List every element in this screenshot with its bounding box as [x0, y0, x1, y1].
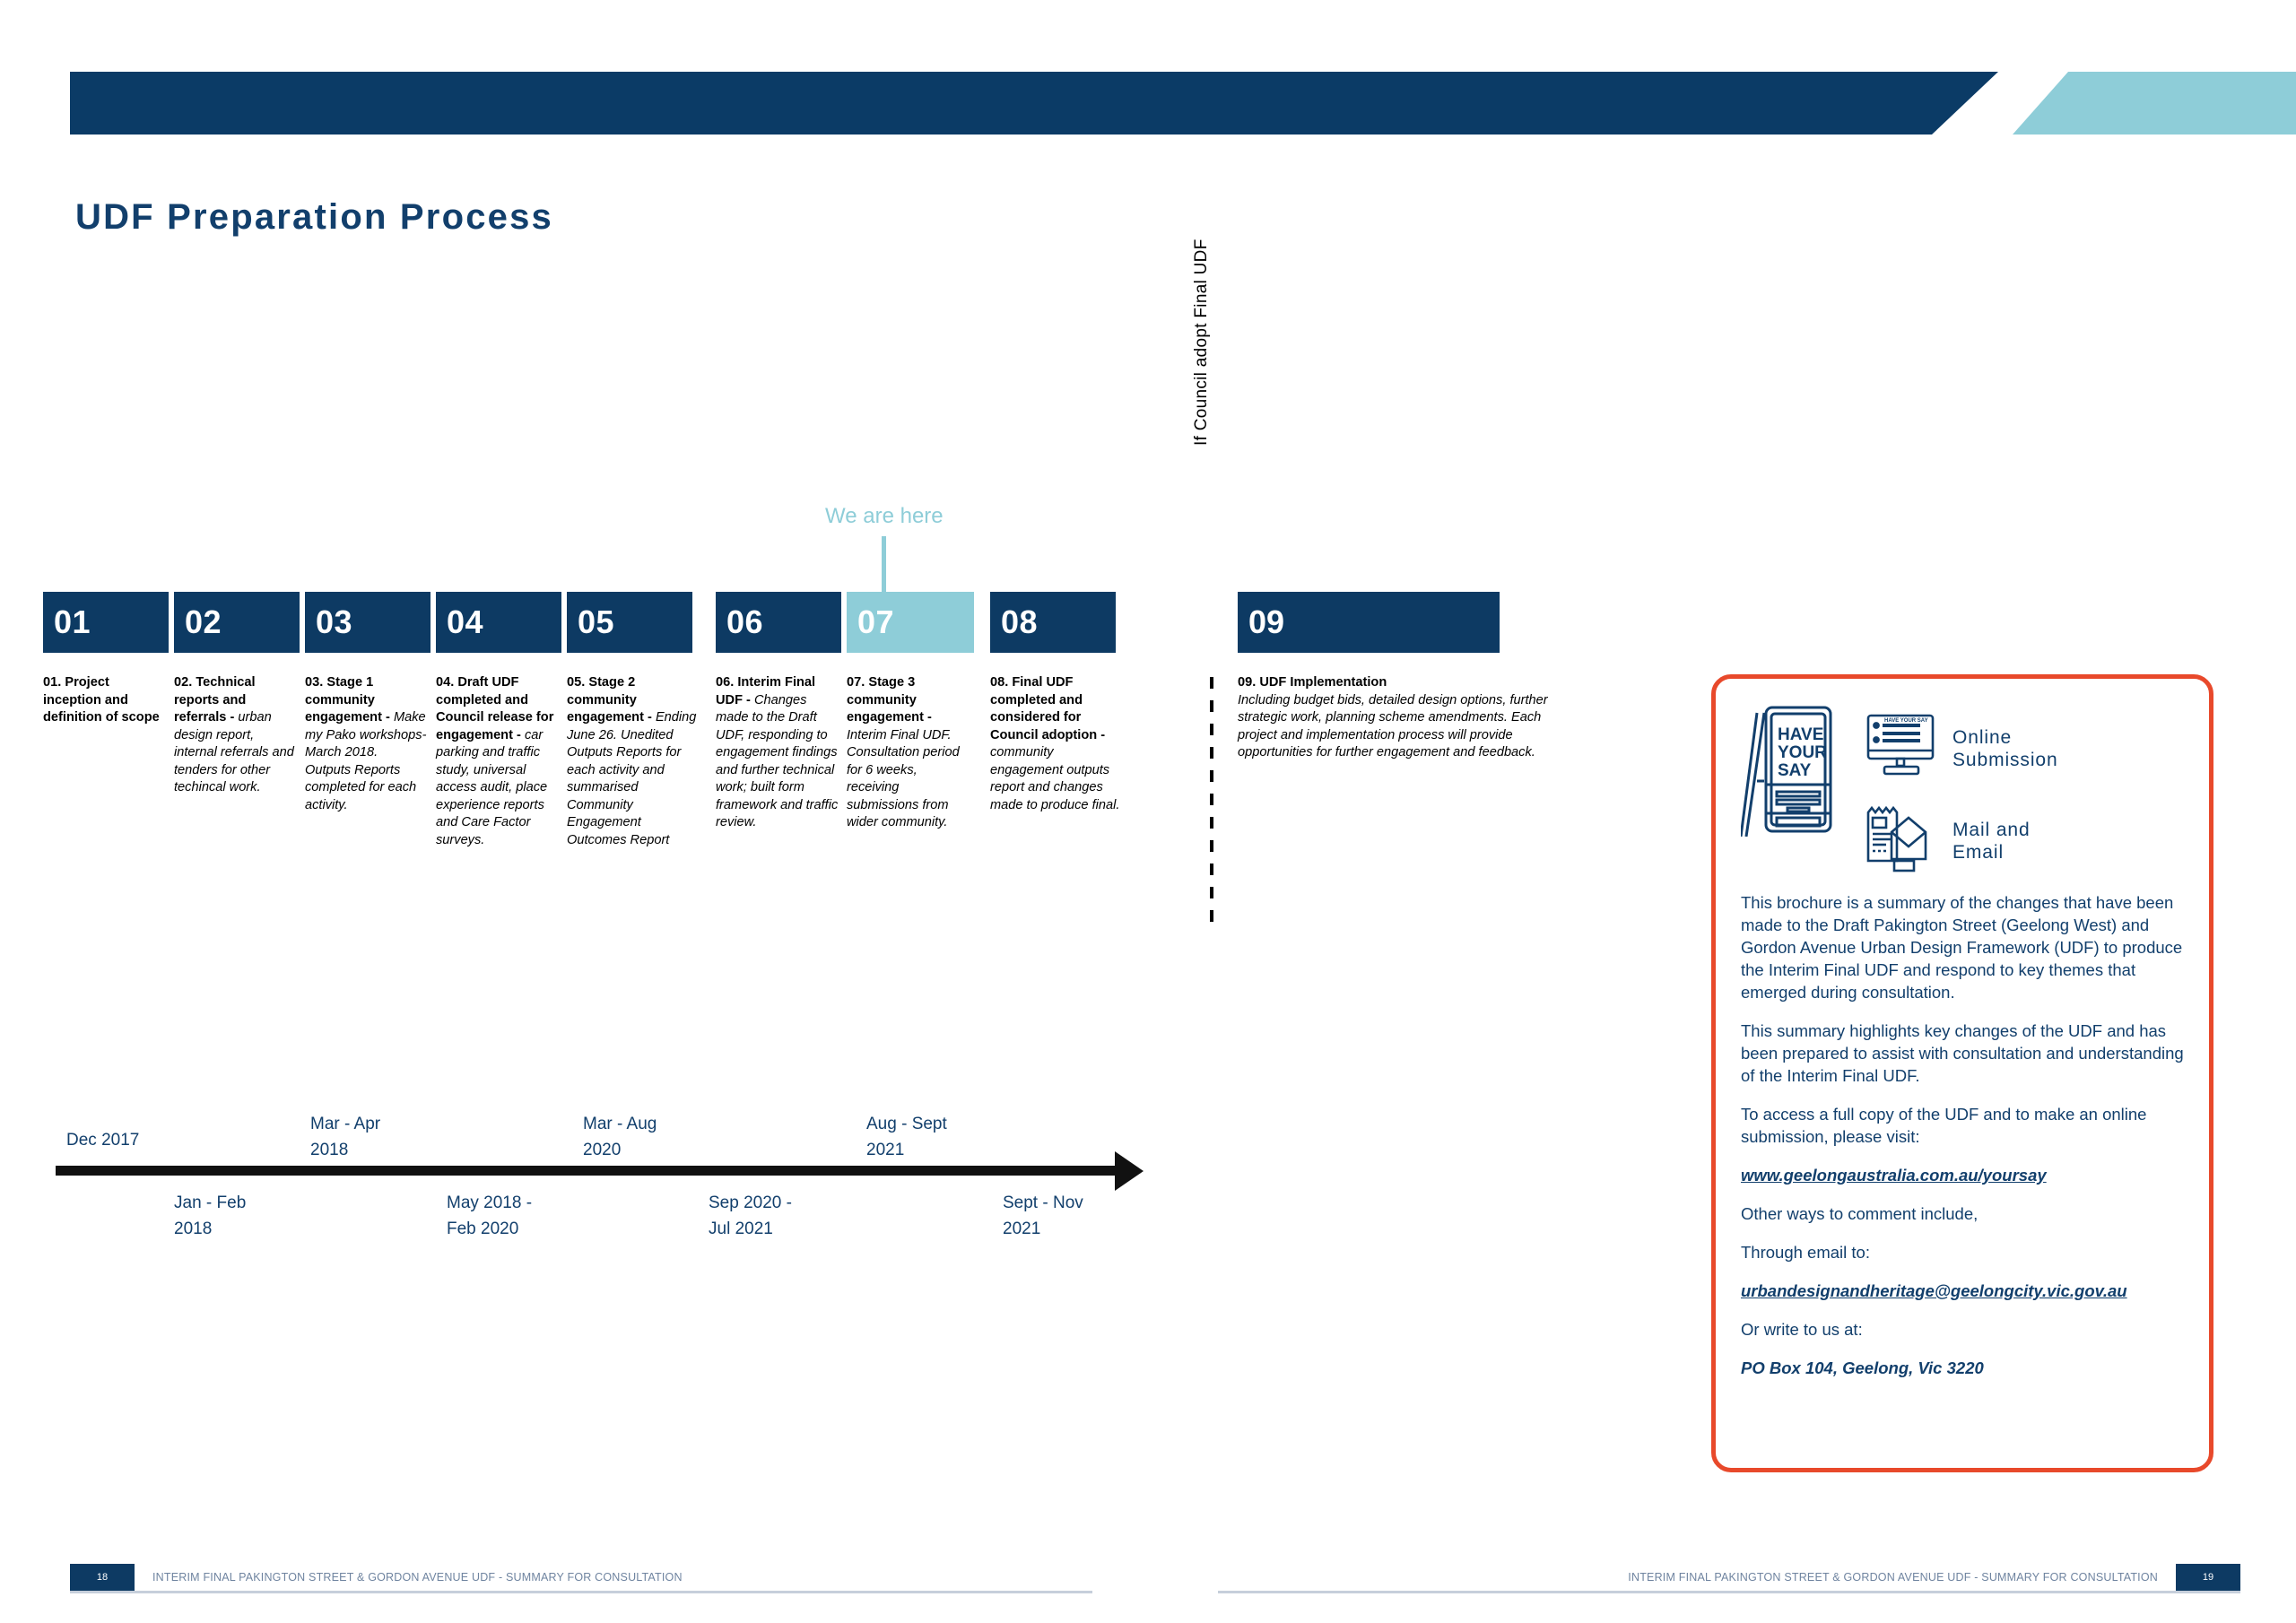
info-paragraph-3: To access a full copy of the UDF and to …: [1741, 1104, 2184, 1149]
label-line-2: Email: [1952, 842, 2004, 863]
conditional-branch-label: If Council adopt Final UDF: [1192, 123, 1212, 446]
postal-address: PO Box 104, Geelong, Vic 3220: [1741, 1358, 2184, 1380]
step-heading-05: 05. Stage 2 community engagement -: [567, 675, 656, 725]
timeline-date-line1: Sep 2020 -: [709, 1191, 792, 1217]
have-your-say-panel: HAVE YOUR SAY: [1711, 674, 2213, 1472]
conditional-branch-dashed-line: [1210, 677, 1213, 928]
step-text-09: 09. UDF Implementation Including budget …: [1238, 674, 1578, 762]
timeline-date-above-3: Mar - Aug 2020: [583, 1112, 657, 1163]
step-box-04[interactable]: 04: [436, 592, 561, 653]
timeline-date-below-4: Sept - Nov 2021: [1003, 1191, 1083, 1242]
timeline-date-line1: Mar - Apr: [310, 1112, 380, 1138]
header-banner-navy-shape: [70, 72, 1998, 135]
label-line-2: Submission: [1952, 750, 2058, 770]
website-link[interactable]: www.geelongaustralia.com.au/yoursay: [1741, 1165, 2184, 1187]
step-detail-04: car parking and traffic study, universal…: [436, 728, 547, 847]
label-line-1: Online: [1952, 727, 2012, 748]
info-paragraph-5: Through email to:: [1741, 1242, 2184, 1264]
step-detail-06: Changes made to the Draft UDF, respondin…: [716, 693, 838, 830]
timeline-date-line1: Dec 2017: [66, 1128, 139, 1154]
have-your-say-body: This brochure is a summary of the change…: [1741, 892, 2184, 1380]
step-box-01[interactable]: 01: [43, 592, 169, 653]
step-detail-07: Interim Final UDF. Consultation period f…: [847, 728, 960, 830]
channel-mail-email: Mail and Email: [1865, 805, 2058, 878]
timeline-date-line2: 2018: [174, 1217, 246, 1243]
footer-rule-right: [1218, 1591, 2240, 1593]
info-paragraph-1: This brochure is a summary of the change…: [1741, 892, 2184, 1004]
step-box-06[interactable]: 06: [716, 592, 841, 653]
step-text-08: 08. Final UDF completed and considered f…: [990, 674, 1123, 814]
timeline-date-line2: 2021: [866, 1138, 947, 1164]
sign-line-3: SAY: [1778, 761, 1812, 780]
step-box-08[interactable]: 08: [990, 592, 1116, 653]
step-text-07: 07. Stage 3 community engagement - Inter…: [847, 674, 972, 832]
footer-rule-left: [70, 1591, 1092, 1593]
info-paragraph-2: This summary highlights key changes of t…: [1741, 1020, 2184, 1088]
channel-mail-email-label: Mail and Email: [1952, 820, 2031, 864]
footer-left: 18 INTERIM FINAL PAKINGTON STREET & GORD…: [70, 1564, 1092, 1591]
step-text-04: 04. Draft UDF completed and Council rele…: [436, 674, 561, 849]
step-box-02[interactable]: 02: [174, 592, 300, 653]
mail-email-icon: [1865, 805, 1942, 878]
step-detail-03: Make my Pako workshops- March 2018. Outp…: [305, 710, 426, 812]
step-heading-07: 07. Stage 3 community engagement -: [847, 675, 932, 725]
footer-right: INTERIM FINAL PAKINGTON STREET & GORDON …: [1218, 1564, 2240, 1591]
sign-line-2: YOUR: [1778, 743, 1827, 762]
step-box-05[interactable]: 05: [567, 592, 692, 653]
we-are-here-connector: [882, 536, 886, 592]
footer-page-number-right: 19: [2176, 1564, 2240, 1591]
step-heading-08: 08. Final UDF completed and considered f…: [990, 675, 1105, 742]
email-link[interactable]: urbandesignandheritage@geelongcity.vic.g…: [1741, 1280, 2184, 1303]
timeline-date-above-2: Mar - Apr 2018: [310, 1112, 380, 1163]
online-submission-icon: HAVE YOUR SAY: [1865, 713, 1942, 785]
have-your-say-icons-row: HAVE YOUR SAY: [1741, 702, 2184, 878]
timeline-date-line1: Mar - Aug: [583, 1112, 657, 1138]
step-detail-05: Ending June 26. Unedited Outputs Reports…: [567, 710, 696, 847]
info-paragraph-6: Or write to us at:: [1741, 1319, 2184, 1341]
step-detail-09: Including budget bids, detailed design o…: [1238, 693, 1548, 760]
step-text-05: 05. Stage 2 community engagement - Endin…: [567, 674, 703, 849]
step-box-03[interactable]: 03: [305, 592, 430, 653]
timeline-date-line2: 2018: [310, 1138, 380, 1164]
timeline-date-line1: May 2018 -: [447, 1191, 532, 1217]
label-line-1: Mail and: [1952, 820, 2031, 840]
timeline-date-line2: 2021: [1003, 1217, 1083, 1243]
step-box-09[interactable]: 09: [1238, 592, 1500, 653]
sign-line-1: HAVE: [1778, 725, 1823, 744]
timeline-date-above-1: Dec 2017: [66, 1128, 139, 1154]
step-detail-08: community engagement outputs report and …: [990, 745, 1119, 812]
we-are-here-label: We are here: [825, 504, 944, 529]
timeline-date-line1: Jan - Feb: [174, 1191, 246, 1217]
timeline-date-below-2: May 2018 - Feb 2020: [447, 1191, 532, 1242]
timeline-axis: [56, 1166, 1118, 1176]
timeline-date-below-3: Sep 2020 - Jul 2021: [709, 1191, 792, 1242]
step-heading-01: 01. Project inception and definition of …: [43, 675, 160, 725]
timeline-date-line2: 2020: [583, 1138, 657, 1164]
step-text-02: 02. Technical reports and referrals - ur…: [174, 674, 294, 797]
timeline-date-line2: Feb 2020: [447, 1217, 532, 1243]
page-title: UDF Preparation Process: [75, 197, 553, 238]
footer-page-number-left: 18: [70, 1564, 135, 1591]
header-banner-teal-shape: [2013, 72, 2296, 135]
step-text-01: 01. Project inception and definition of …: [43, 674, 160, 727]
monitor-caption: HAVE YOUR SAY: [1884, 718, 1928, 724]
channel-online-submission-label: Online Submission: [1952, 727, 2058, 772]
step-text-06: 06. Interim Final UDF - Changes made to …: [716, 674, 841, 832]
info-paragraph-4: Other ways to comment include,: [1741, 1203, 2184, 1226]
footer-title-right: INTERIM FINAL PAKINGTON STREET & GORDON …: [1628, 1564, 2158, 1591]
step-heading-09: 09. UDF Implementation: [1238, 675, 1387, 690]
channel-online-submission: HAVE YOUR SAY Online Submission: [1865, 713, 2058, 785]
step-text-03: 03. Stage 1 community engagement - Make …: [305, 674, 427, 814]
footer-title-left: INTERIM FINAL PAKINGTON STREET & GORDON …: [152, 1564, 683, 1591]
step-heading-03: 03. Stage 1 community engagement -: [305, 675, 394, 725]
step-box-07[interactable]: 07: [847, 592, 974, 653]
timeline-date-above-4: Aug - Sept 2021: [866, 1112, 947, 1163]
timeline-date-below-1: Jan - Feb 2018: [174, 1191, 246, 1242]
have-your-say-sign-icon: HAVE YOUR SAY: [1741, 702, 1850, 841]
header-banner: [70, 72, 2240, 135]
timeline-date-line1: Aug - Sept: [866, 1112, 947, 1138]
timeline-arrowhead: [1115, 1151, 1144, 1191]
timeline-date-line2: Jul 2021: [709, 1217, 792, 1243]
timeline-date-line1: Sept - Nov: [1003, 1191, 1083, 1217]
